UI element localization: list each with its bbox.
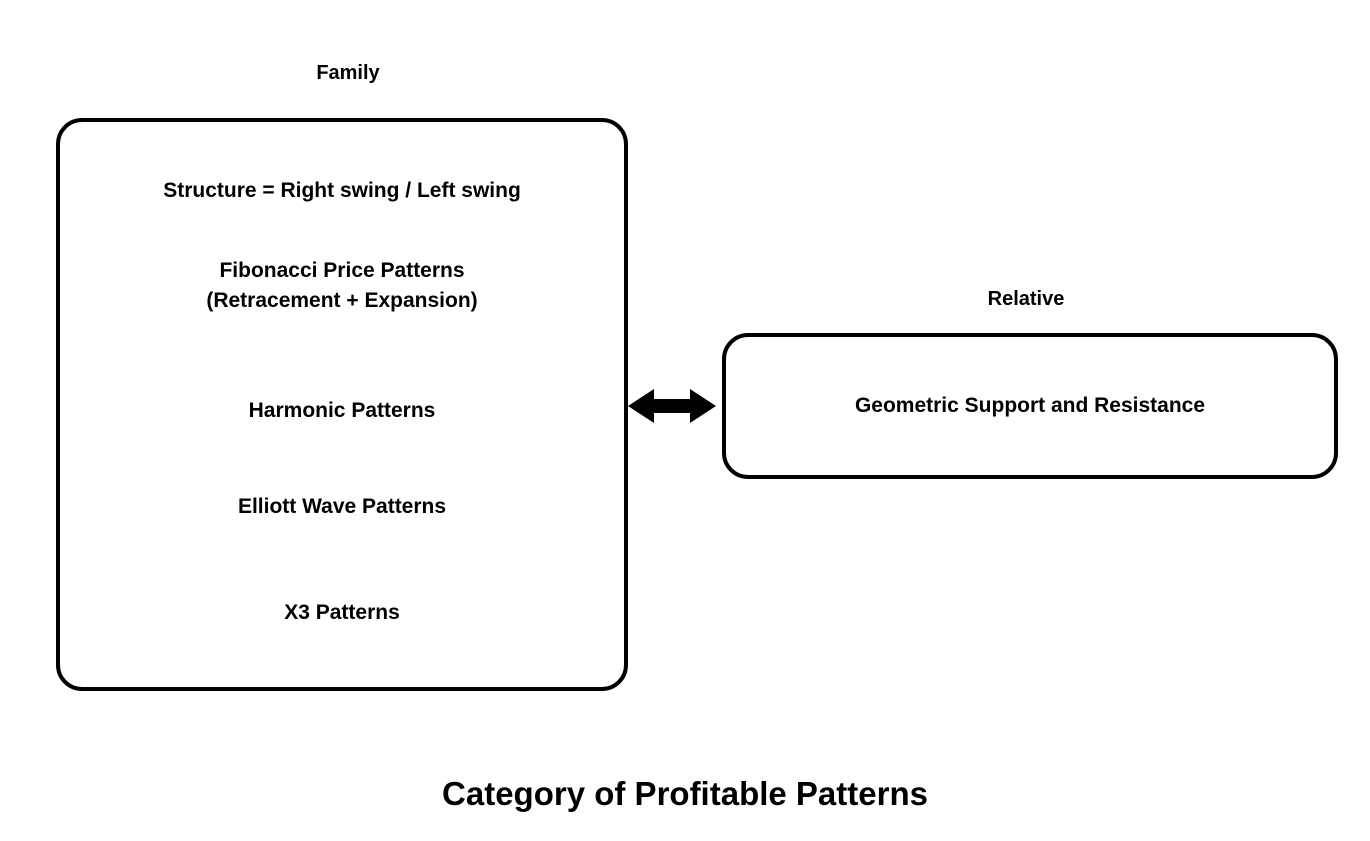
family-item-x3-patterns: X3 Patterns [60,598,624,628]
family-item-harmonic-patterns: Harmonic Patterns [60,396,624,426]
diagram-canvas: Family Structure = Right swing / Left sw… [0,0,1370,841]
family-group-label: Family [248,61,448,85]
diagram-caption: Category of Profitable Patterns [0,772,1370,816]
family-item-elliott-wave-patterns: Elliott Wave Patterns [60,492,624,522]
relative-item-geometric-support-and-resistance: Geometric Support and Resistance [726,337,1334,475]
relative-box: Geometric Support and Resistance [722,333,1338,479]
family-item-fibonacci-price-patterns: Fibonacci Price Patterns (Retracement + … [60,256,624,316]
relative-group-label: Relative [926,287,1126,311]
family-box: Structure = Right swing / Left swing Fib… [56,118,628,691]
double-headed-arrow-connector [628,386,716,426]
family-item-structure: Structure = Right swing / Left swing [60,176,624,206]
double-headed-arrow-icon [628,386,716,426]
